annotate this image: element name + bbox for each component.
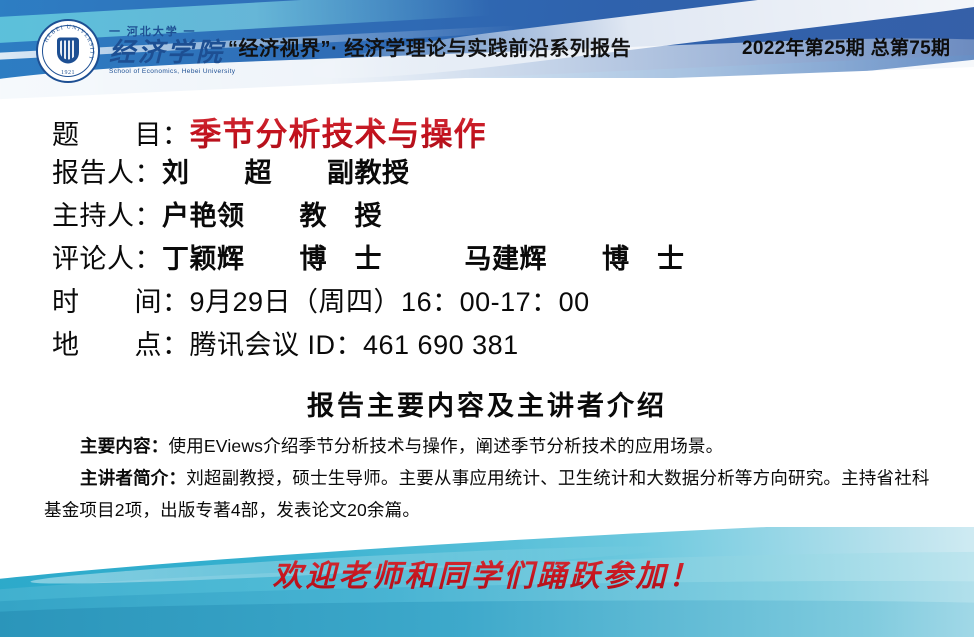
info-label-time: 时 间：	[52, 280, 190, 319]
info-row-speaker: 报告人： 刘 超 副教授	[52, 151, 932, 194]
event-info-block: 题 目： 季节分析技术与操作 报告人： 刘 超 副教授 主持人： 户艳领 教 授…	[52, 108, 932, 366]
info-label-speaker: 报告人：	[52, 151, 162, 190]
paragraph-main-content: 主要内容：使用EViews介绍季节分析技术与操作，阐述季节分析技术的应用场景。	[44, 430, 934, 462]
logo-wordmark: 一 河北大学 一 经济学院 School of Economics, Hebei…	[109, 27, 235, 76]
seal-shield-icon	[57, 37, 79, 63]
paragraph-speaker-bio: 主讲者简介：刘超副教授，硕士生导师。主要从事应用统计、卫生统计和大数据分析等方向…	[44, 462, 934, 526]
seminar-poster: HEBEI UNIVERSITY 1921 一 河北大学 一 经济学院 Scho…	[0, 0, 974, 637]
university-seal-icon: HEBEI UNIVERSITY 1921	[36, 19, 100, 83]
content-body: 主要内容：使用EViews介绍季节分析技术与操作，阐述季节分析技术的应用场景。 …	[44, 430, 934, 526]
logo-university-name: 一 河北大学 一	[109, 27, 235, 38]
info-label-topic: 题 目：	[52, 113, 190, 152]
seal-year-label: 1921	[38, 70, 98, 76]
label-main-content: 主要内容：	[80, 436, 169, 456]
info-value-commentators: 丁颖辉 博 士 马建辉 博 士	[162, 237, 685, 276]
info-label-commentators: 评论人：	[52, 237, 162, 276]
info-row-host: 主持人： 户艳领 教 授	[52, 194, 932, 237]
welcome-message: 欢迎老师和同学们踊跃参加！	[0, 551, 974, 595]
info-value-location: 腾讯会议 ID：461 690 381	[190, 323, 519, 362]
info-value-speaker: 刘 超 副教授	[162, 151, 410, 190]
info-value-host: 户艳领 教 授	[162, 194, 382, 233]
content-section-heading: 报告主要内容及主讲者介绍	[0, 384, 974, 423]
series-title: “经济视界”· 经济学理论与实践前沿系列报告	[228, 32, 631, 61]
logo-school-name: 经济学院	[109, 39, 235, 66]
info-row-topic: 题 目： 季节分析技术与操作	[52, 108, 932, 151]
info-label-host: 主持人：	[52, 194, 162, 233]
label-speaker-bio: 主讲者简介：	[80, 468, 186, 488]
issue-number: 2022年第25期 总第75期	[742, 33, 950, 60]
text-main-content: 使用EViews介绍季节分析技术与操作，阐述季节分析技术的应用场景。	[169, 436, 724, 456]
logo-english-name: School of Economics, Hebei University	[109, 69, 235, 76]
info-value-topic: 季节分析技术与操作	[190, 109, 487, 155]
info-row-commentators: 评论人： 丁颖辉 博 士 马建辉 博 士	[52, 237, 932, 280]
info-row-time: 时 间： 9月29日（周四）16：00-17：00	[52, 280, 932, 323]
info-row-location: 地 点： 腾讯会议 ID：461 690 381	[52, 323, 932, 366]
info-label-location: 地 点：	[52, 323, 190, 362]
info-value-time: 9月29日（周四）16：00-17：00	[190, 280, 590, 319]
